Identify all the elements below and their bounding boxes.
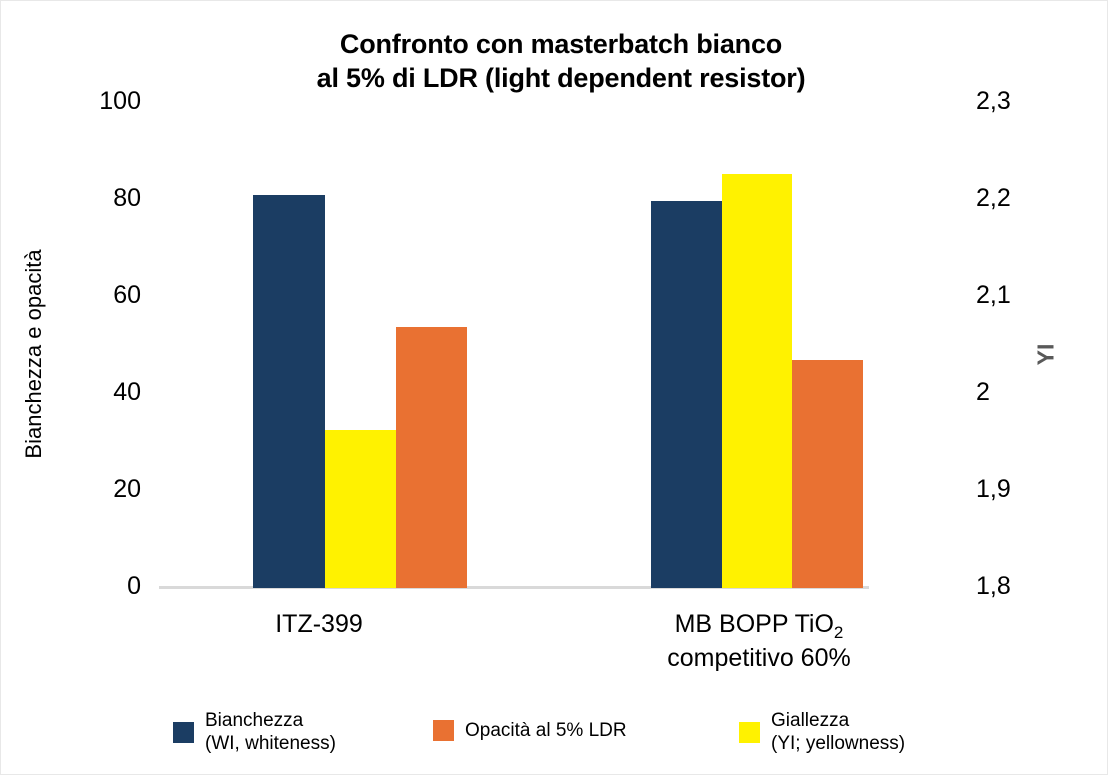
chart-container: Confronto con masterbatch bianco al 5% d… [0,0,1108,775]
y-axis-right-ticks: 2,3 2,2 2,1 2 1,9 1,8 [976,1,1072,775]
legend-swatch-giallezza-icon [739,722,760,743]
x-axis-category-mbbopp-line-1: MB BOPP TiO2 [619,609,899,643]
plot-area [159,96,869,589]
bar-mbbopp-bianchezza [651,201,722,588]
legend-label-giallezza-line-2: (YI; yellowness) [771,732,905,755]
legend-swatch-opacita-icon [433,720,454,741]
legend-item-giallezza[interactable]: Giallezza (YI; yellowness) [739,709,905,755]
bar-itz399-giallezza [325,430,396,588]
x-axis-category-itz399: ITZ-399 [219,609,419,640]
x-axis-category-mbbopp-subscript: 2 [834,623,843,642]
y-tick-right-1-8-label: 1,8 [976,572,1011,601]
legend-label-bianchezza-line-2: (WI, whiteness) [205,732,336,755]
y-tick-right-1-9-label: 1,9 [976,475,1011,504]
bar-mbbopp-opacita [792,360,863,588]
chart-legend: Bianchezza (WI, whiteness) Opacità al 5%… [1,701,1108,765]
x-axis-category-mbbopp-text: MB BOPP TiO [675,610,834,638]
legend-label-opacita-line-1: Opacità al 5% LDR [465,719,627,742]
x-axis-category-mbbopp-line-2: competitivo 60% [619,643,899,674]
y-tick-left-60-label: 60 [113,281,141,310]
chart-title-line-1: Confronto con masterbatch bianco [171,27,951,61]
bar-itz399-bianchezza [253,195,325,588]
y-tick-right-2-1-label: 2,1 [976,281,1011,310]
y-tick-left-0-label: 0 [127,572,141,601]
bar-mbbopp-giallezza [722,174,792,588]
x-axis-category-mbbopp: MB BOPP TiO2 competitivo 60% [619,609,899,674]
y-axis-left-ticks: 100 80 60 40 20 0 [45,1,141,775]
y-tick-right-2-2-label: 2,2 [976,184,1011,213]
legend-label-giallezza-line-1: Giallezza [771,709,905,732]
legend-label-opacita: Opacità al 5% LDR [465,719,627,742]
bar-itz399-opacita [396,327,467,588]
legend-item-bianchezza[interactable]: Bianchezza (WI, whiteness) [173,709,336,755]
legend-swatch-bianchezza-icon [173,722,194,743]
y-axis-left-title: Bianchezza e opacità [21,184,47,524]
y-tick-right-2-3-label: 2,3 [976,87,1011,116]
legend-item-opacita[interactable]: Opacità al 5% LDR [433,719,627,742]
y-tick-left-80-label: 80 [113,184,141,213]
y-tick-left-100-label: 100 [99,87,141,116]
y-tick-left-20-label: 20 [113,475,141,504]
legend-label-bianchezza: Bianchezza (WI, whiteness) [205,709,336,755]
y-tick-left-40-label: 40 [113,378,141,407]
chart-title: Confronto con masterbatch bianco al 5% d… [171,27,951,95]
legend-label-bianchezza-line-1: Bianchezza [205,709,336,732]
legend-label-giallezza: Giallezza (YI; yellowness) [771,709,905,755]
chart-title-line-2: al 5% di LDR (light dependent resistor) [171,61,951,95]
y-tick-right-2-label: 2 [976,378,990,407]
x-axis-category-itz399-line-1: ITZ-399 [219,609,419,640]
